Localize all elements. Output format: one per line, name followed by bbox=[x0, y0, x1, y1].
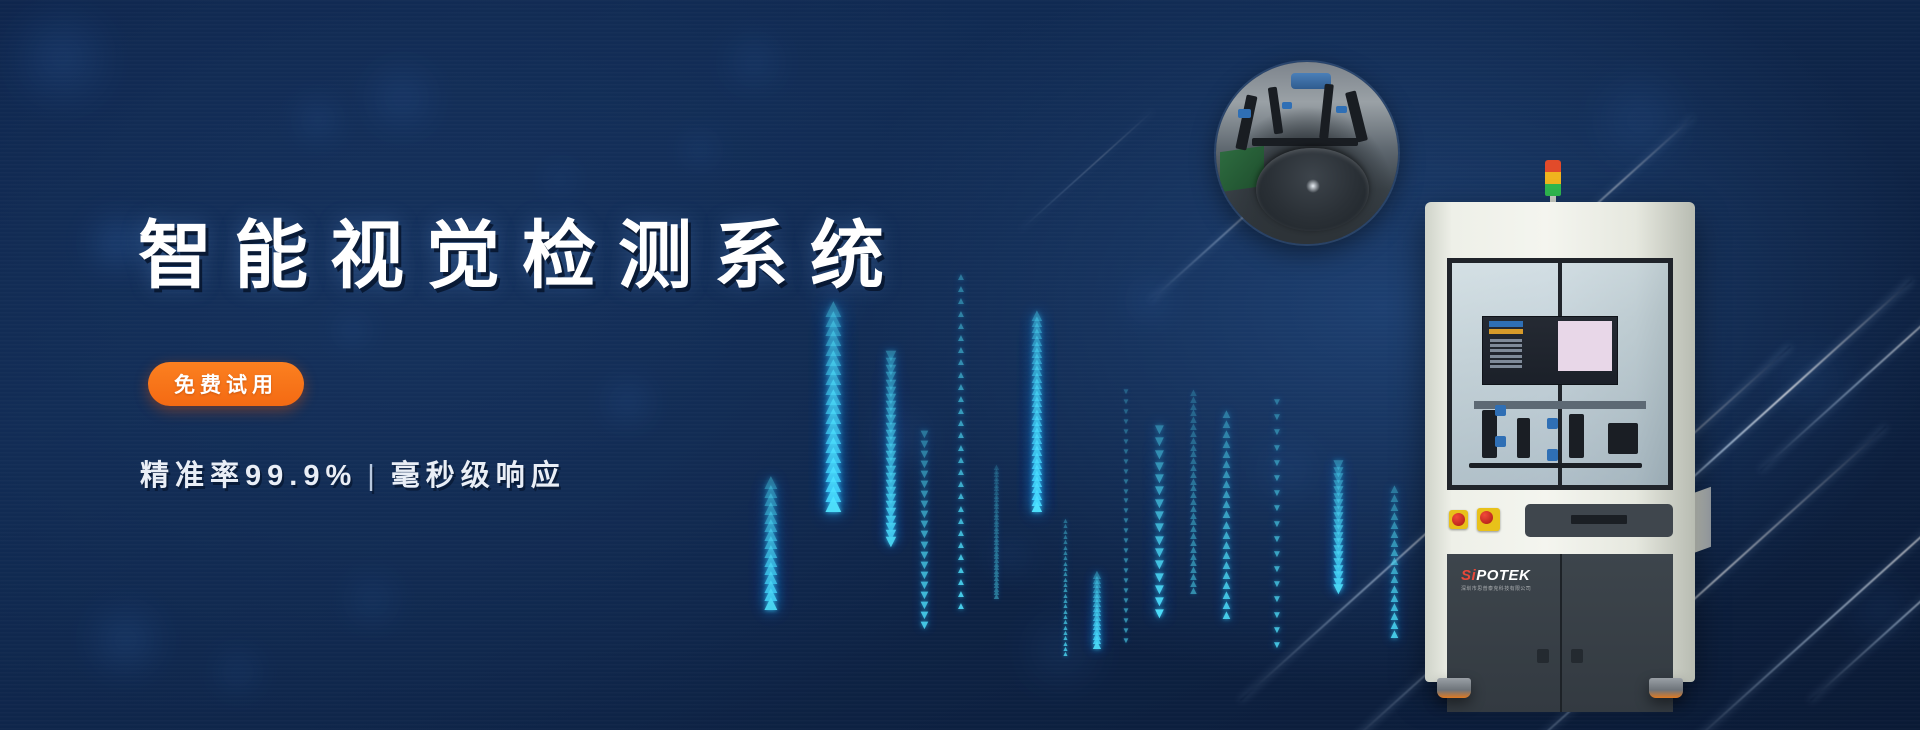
chevron-icon: ▼ bbox=[1122, 460, 1130, 465]
bokeh-glow bbox=[986, 532, 1034, 580]
chevron-icon: ▲ bbox=[1220, 480, 1233, 488]
hero-banner: ▲▲▲▲▲▲▲▲▲▲▲▲▲▲▲▲▲▲▲▲▲▲▲▲▲▲▲▲▲▲▲▲▲▲▲▲▼▼▼▼… bbox=[0, 0, 1920, 730]
chevron-icon: ▲ bbox=[1090, 612, 1104, 621]
chevron-icon: ▼ bbox=[1272, 582, 1282, 588]
chevron-icon: ▲ bbox=[1062, 573, 1069, 577]
signal-tower-red-lamp bbox=[1545, 160, 1561, 172]
chevron-icon: ▲ bbox=[1028, 341, 1046, 352]
chevron-icon: ▲ bbox=[1062, 589, 1069, 593]
chevron-icon: ▲ bbox=[992, 547, 1001, 553]
chevron-icon: ▼ bbox=[1272, 567, 1282, 573]
chevron-icon: ▲ bbox=[1028, 501, 1046, 512]
chevron-icon: ▲ bbox=[1090, 635, 1104, 644]
chevron-icon: ▲ bbox=[992, 554, 1001, 560]
chevron-icon: ▲ bbox=[1188, 479, 1199, 486]
chevron-column: ▼▼▼▼▼▼▼▼▼▼▼▼▼▼▼▼▼▼▼▼▼▼▼▼▼▼ bbox=[1122, 390, 1130, 730]
chevron-icon: ▲ bbox=[992, 551, 1001, 557]
brand-rest: POTEK bbox=[1476, 567, 1530, 584]
chevron-icon: ▲ bbox=[1090, 579, 1104, 588]
chevron-icon: ▼ bbox=[1152, 573, 1167, 582]
chevron-icon: ▼ bbox=[1122, 390, 1130, 395]
chevron-icon: ▲ bbox=[1188, 424, 1199, 431]
chevron-icon: ▲ bbox=[1188, 499, 1199, 506]
signal-tower bbox=[1545, 160, 1561, 208]
chevron-icon: ▲ bbox=[992, 526, 1001, 532]
hero-subtitle: 精准率99.9%|毫秒级响应 bbox=[140, 452, 566, 494]
signal-tower-yellow-lamp bbox=[1545, 172, 1561, 184]
chevron-icon: ▲ bbox=[1220, 571, 1233, 579]
chevron-icon: ▲ bbox=[1220, 460, 1233, 468]
chevron-icon: ▲ bbox=[992, 483, 1001, 489]
chevron-icon: ▼ bbox=[1152, 486, 1167, 495]
chevron-icon: ▲ bbox=[1188, 513, 1199, 520]
chevron-icon: ▲ bbox=[1388, 621, 1401, 629]
chevron-icon: ▲ bbox=[1188, 431, 1199, 438]
chevron-icon: ▼ bbox=[1330, 584, 1347, 595]
chevron-icon: ▲ bbox=[1220, 470, 1233, 478]
hmi-orange-bar bbox=[1489, 329, 1524, 334]
chevron-icon: ▼ bbox=[1272, 430, 1282, 436]
chevron-icon: ▲ bbox=[1028, 322, 1046, 333]
chevron-icon: ▼ bbox=[1272, 400, 1282, 406]
chevron-icon: ▲ bbox=[1062, 557, 1069, 561]
chevron-icon: ▲ bbox=[1090, 621, 1104, 630]
chevron-icon: ▲ bbox=[1188, 485, 1199, 492]
hmi-image-panel bbox=[1558, 321, 1612, 370]
chevron-icon: ▲ bbox=[992, 479, 1001, 485]
chevron-icon: ▲ bbox=[1388, 575, 1401, 583]
hero-text-block: 智能视觉检测系统 免费试用 精准率99.9%|毫秒级响应 bbox=[0, 0, 980, 730]
light-streak bbox=[1671, 412, 1920, 730]
chevron-icon: ▲ bbox=[992, 465, 1001, 471]
machine-foot bbox=[1649, 678, 1683, 698]
chevron-icon: ▲ bbox=[1388, 521, 1401, 529]
chevron-column: ▲▲▲▲▲▲▲▲▲▲▲▲▲▲▲▲▲ bbox=[1388, 485, 1401, 730]
chevron-icon: ▲ bbox=[1090, 626, 1104, 635]
chevron-icon: ▲ bbox=[1062, 648, 1069, 652]
chevron-icon: ▲ bbox=[992, 472, 1001, 478]
chevron-icon: ▲ bbox=[1062, 568, 1069, 572]
chevron-icon: ▲ bbox=[1028, 495, 1046, 506]
chevron-icon: ▼ bbox=[1152, 425, 1167, 434]
chevron-icon: ▲ bbox=[1090, 607, 1104, 616]
chevron-icon: ▲ bbox=[1220, 561, 1233, 569]
chevron-icon: ▼ bbox=[1122, 400, 1130, 405]
chevron-icon: ▼ bbox=[1330, 545, 1347, 556]
chevron-icon: ▼ bbox=[1122, 430, 1130, 435]
light-streak bbox=[1759, 249, 1920, 471]
chevron-icon: ▲ bbox=[1388, 539, 1401, 547]
chevron-icon: ▼ bbox=[1330, 519, 1347, 530]
subtitle-latency: 毫秒级响应 bbox=[391, 460, 566, 492]
subtitle-accuracy: 精准率99.9% bbox=[140, 460, 357, 492]
chevron-icon: ▼ bbox=[1330, 578, 1347, 589]
chevron-icon: ▲ bbox=[1028, 476, 1046, 487]
chevron-icon: ▼ bbox=[1152, 462, 1167, 471]
inset-connector bbox=[1238, 109, 1251, 118]
machine-fixture bbox=[1569, 414, 1584, 458]
inset-rotary-glass-plate bbox=[1256, 148, 1369, 232]
chevron-icon: ▲ bbox=[992, 590, 1001, 596]
chevron-icon: ▲ bbox=[1062, 547, 1069, 551]
chevron-icon: ▲ bbox=[1388, 630, 1401, 638]
chevron-icon: ▼ bbox=[1152, 450, 1167, 459]
inset-connector bbox=[1282, 102, 1293, 109]
chevron-icon: ▲ bbox=[1028, 409, 1046, 420]
chevron-icon: ▲ bbox=[992, 569, 1001, 575]
chevron-icon: ▲ bbox=[992, 529, 1001, 535]
chevron-icon: ▲ bbox=[1028, 365, 1046, 376]
machine-control-strip bbox=[1447, 502, 1673, 544]
chevron-icon: ▲ bbox=[1028, 396, 1046, 407]
chevron-icon: ▲ bbox=[1090, 593, 1104, 602]
chevron-icon: ▼ bbox=[1122, 629, 1130, 634]
machine-foot bbox=[1437, 678, 1471, 698]
chevron-icon: ▲ bbox=[1028, 482, 1046, 493]
chevron-icon: ▲ bbox=[1028, 390, 1046, 401]
chevron-icon: ▲ bbox=[1090, 603, 1104, 612]
chevron-icon: ▼ bbox=[1330, 538, 1347, 549]
chevron-icon: ▲ bbox=[1220, 591, 1233, 599]
chevron-icon: ▲ bbox=[1062, 616, 1069, 620]
chevron-icon: ▼ bbox=[1330, 571, 1347, 582]
chevron-icon: ▼ bbox=[1122, 440, 1130, 445]
chevron-icon: ▼ bbox=[1272, 522, 1282, 528]
machine-fixture bbox=[1517, 418, 1530, 458]
chevron-icon: ▲ bbox=[1062, 536, 1069, 540]
chevron-icon: ▲ bbox=[992, 522, 1001, 528]
bokeh-glow bbox=[1244, 426, 1332, 514]
chevron-icon: ▲ bbox=[1090, 570, 1104, 579]
chevron-icon: ▲ bbox=[1028, 458, 1046, 469]
subtitle-separator: | bbox=[357, 460, 391, 492]
chevron-column: ▲▲▲▲▲▲▲▲▲▲▲▲▲▲▲▲▲▲▲▲▲▲▲▲▲▲▲▲▲▲▲▲ bbox=[1028, 310, 1046, 730]
chevron-column: ▲▲▲▲▲▲▲▲▲▲▲▲▲▲▲▲▲▲▲▲▲ bbox=[1220, 410, 1233, 730]
inset-connector bbox=[1336, 106, 1347, 113]
chevron-icon: ▲ bbox=[1028, 384, 1046, 395]
chevron-icon: ▲ bbox=[1028, 445, 1046, 456]
chevron-icon: ▼ bbox=[1152, 499, 1167, 508]
chevron-icon: ▼ bbox=[1272, 461, 1282, 467]
chevron-icon: ▲ bbox=[1388, 603, 1401, 611]
chevron-icon: ▲ bbox=[1388, 494, 1401, 502]
chevron-icon: ▲ bbox=[992, 515, 1001, 521]
chevron-icon: ▲ bbox=[1388, 512, 1401, 520]
chevron-icon: ▲ bbox=[992, 508, 1001, 514]
machine-blue-fitting bbox=[1495, 436, 1506, 447]
machine-hmi-screen bbox=[1482, 316, 1618, 385]
chevron-icon: ▼ bbox=[1272, 597, 1282, 603]
chevron-icon: ▲ bbox=[1188, 560, 1199, 567]
emergency-stop-button[interactable] bbox=[1449, 510, 1468, 529]
chevron-icon: ▲ bbox=[1388, 503, 1401, 511]
chevron-column: ▲▲▲▲▲▲▲▲▲▲▲▲▲▲▲▲ bbox=[1090, 570, 1104, 730]
chevron-icon: ▲ bbox=[1188, 390, 1199, 397]
chevron-column: ▲▲▲▲▲▲▲▲▲▲▲▲▲▲▲▲▲▲▲▲▲▲▲▲▲▲▲▲▲▲ bbox=[1188, 390, 1199, 730]
chevron-icon: ▲ bbox=[1188, 445, 1199, 452]
chevron-icon: ▲ bbox=[1028, 359, 1046, 370]
light-streak bbox=[1020, 110, 1155, 231]
chevron-icon: ▲ bbox=[992, 558, 1001, 564]
chevron-icon: ▲ bbox=[1090, 589, 1104, 598]
inset-photo-rotary-inspection bbox=[1216, 62, 1398, 244]
chevron-icon: ▲ bbox=[1090, 575, 1104, 584]
chevron-icon: ▲ bbox=[1062, 621, 1069, 625]
chevron-icon: ▲ bbox=[992, 476, 1001, 482]
chevron-icon: ▲ bbox=[1188, 410, 1199, 417]
chevron-icon: ▲ bbox=[1062, 579, 1069, 583]
chevron-column: ▼▼▼▼▼▼▼▼▼▼▼▼▼▼▼▼▼ bbox=[1272, 400, 1282, 730]
machine-base-plate bbox=[1469, 463, 1642, 468]
chevron-icon: ▼ bbox=[1330, 493, 1347, 504]
chevron-icon: ▲ bbox=[1188, 438, 1199, 445]
chevron-icon: ▲ bbox=[992, 537, 1001, 543]
chevron-icon: ▲ bbox=[1028, 439, 1046, 450]
chevron-icon: ▲ bbox=[1028, 415, 1046, 426]
chevron-icon: ▲ bbox=[992, 497, 1001, 503]
machine-company-name: 深圳市思普泰克科技有限公司 bbox=[1461, 585, 1531, 592]
chevron-icon: ▲ bbox=[1220, 440, 1233, 448]
chevron-icon: ▲ bbox=[1188, 540, 1199, 547]
chevron-icon: ▲ bbox=[992, 504, 1001, 510]
chevron-icon: ▲ bbox=[992, 490, 1001, 496]
chevron-icon: ▲ bbox=[992, 469, 1001, 475]
chevron-icon: ▲ bbox=[1388, 530, 1401, 538]
chevron-icon: ▼ bbox=[1152, 597, 1167, 606]
chevron-icon: ▼ bbox=[1330, 460, 1347, 471]
chevron-icon: ▼ bbox=[1272, 446, 1282, 452]
chevron-icon: ▼ bbox=[1122, 569, 1130, 574]
chevron-icon: ▼ bbox=[1122, 470, 1130, 475]
chevron-icon: ▲ bbox=[1028, 353, 1046, 364]
chevron-icon: ▼ bbox=[1122, 480, 1130, 485]
door-handle-left[interactable] bbox=[1537, 649, 1549, 663]
chevron-icon: ▲ bbox=[1028, 372, 1046, 383]
chevron-icon: ▲ bbox=[992, 494, 1001, 500]
chevron-icon: ▼ bbox=[1122, 639, 1130, 644]
chevron-icon: ▼ bbox=[1330, 506, 1347, 517]
chevron-icon: ▲ bbox=[1188, 492, 1199, 499]
chevron-icon: ▲ bbox=[1028, 347, 1046, 358]
chevron-icon: ▲ bbox=[1188, 397, 1199, 404]
chevron-icon: ▲ bbox=[992, 540, 1001, 546]
chevron-icon: ▲ bbox=[1188, 519, 1199, 526]
chevron-column: ▲▲▲▲▲▲▲▲▲▲▲▲▲▲▲▲▲▲▲▲▲▲▲▲▲▲▲▲▲▲▲▲▲▲▲▲▲ bbox=[992, 465, 1001, 730]
chevron-icon: ▲ bbox=[1220, 551, 1233, 559]
chevron-icon: ▲ bbox=[992, 572, 1001, 578]
chevron-icon: ▲ bbox=[1388, 585, 1401, 593]
chevron-icon: ▲ bbox=[1388, 557, 1401, 565]
chevron-column: ▲▲▲▲▲▲▲▲▲▲▲▲▲▲▲▲▲▲▲▲▲▲▲▲▲▲ bbox=[1062, 520, 1069, 730]
chevron-icon: ▲ bbox=[1062, 584, 1069, 588]
chevron-icon: ▲ bbox=[1188, 533, 1199, 540]
chevron-icon: ▼ bbox=[1122, 589, 1130, 594]
chevron-icon: ▲ bbox=[1062, 632, 1069, 636]
chevron-icon: ▲ bbox=[1188, 574, 1199, 581]
chevron-icon: ▼ bbox=[1122, 450, 1130, 455]
chevron-icon: ▲ bbox=[992, 486, 1001, 492]
chevron-icon: ▲ bbox=[1188, 458, 1199, 465]
machine-fixture bbox=[1482, 410, 1497, 459]
chevron-icon: ▲ bbox=[1062, 605, 1069, 609]
chevron-icon: ▲ bbox=[1028, 378, 1046, 389]
chevron-icon: ▼ bbox=[1122, 559, 1130, 564]
bokeh-glow bbox=[1010, 598, 1114, 702]
bokeh-glow bbox=[1120, 270, 1180, 330]
chevron-icon: ▲ bbox=[992, 576, 1001, 582]
chevron-icon: ▼ bbox=[1122, 420, 1130, 425]
chevron-icon: ▼ bbox=[1122, 529, 1130, 534]
chevron-icon: ▲ bbox=[1388, 485, 1401, 493]
chevron-icon: ▼ bbox=[1330, 525, 1347, 536]
chevron-icon: ▲ bbox=[1388, 548, 1401, 556]
signal-tower-green-lamp bbox=[1545, 184, 1561, 196]
chevron-icon: ▲ bbox=[1062, 595, 1069, 599]
chevron-icon: ▲ bbox=[1388, 594, 1401, 602]
chevron-icon: ▲ bbox=[992, 562, 1001, 568]
chevron-icon: ▼ bbox=[1122, 609, 1130, 614]
chevron-icon: ▼ bbox=[1122, 549, 1130, 554]
chevron-icon: ▲ bbox=[1220, 510, 1233, 518]
chevron-icon: ▲ bbox=[1188, 417, 1199, 424]
chevron-icon: ▲ bbox=[1188, 547, 1199, 554]
machine-brand-logo: SiPOTEK bbox=[1461, 568, 1530, 583]
machine-access-slot bbox=[1525, 504, 1673, 537]
chevron-icon: ▲ bbox=[1220, 611, 1233, 619]
page-title: 智能视觉检测系统 bbox=[138, 196, 906, 303]
chevron-icon: ▼ bbox=[1330, 532, 1347, 543]
chevron-icon: ▼ bbox=[1152, 474, 1167, 483]
chevron-icon: ▼ bbox=[1272, 613, 1282, 619]
chevron-icon: ▼ bbox=[1122, 499, 1130, 504]
chevron-icon: ▲ bbox=[1220, 450, 1233, 458]
chevron-icon: ▼ bbox=[1330, 565, 1347, 576]
chevron-icon: ▲ bbox=[1188, 465, 1199, 472]
machine-blue-fitting bbox=[1495, 405, 1506, 416]
chevron-icon: ▼ bbox=[1122, 410, 1130, 415]
chevron-icon: ▲ bbox=[992, 565, 1001, 571]
chevron-icon: ▲ bbox=[1188, 526, 1199, 533]
chevron-icon: ▼ bbox=[1272, 476, 1282, 482]
chevron-icon: ▼ bbox=[1152, 437, 1167, 446]
machine-lower-doors[interactable]: SiPOTEK 深圳市思普泰克科技有限公司 bbox=[1447, 554, 1673, 712]
chevron-icon: ▲ bbox=[1388, 612, 1401, 620]
free-trial-badge-label: 免费试用 bbox=[174, 369, 278, 399]
chevron-icon: ▼ bbox=[1330, 467, 1347, 478]
chevron-icon: ▲ bbox=[1028, 470, 1046, 481]
bokeh-glow bbox=[1762, 330, 1862, 430]
chevron-icon: ▲ bbox=[1220, 490, 1233, 498]
chevron-icon: ▲ bbox=[1220, 500, 1233, 508]
hmi-blue-bar bbox=[1489, 321, 1524, 328]
chevron-icon: ▲ bbox=[1028, 421, 1046, 432]
chevron-icon: ▼ bbox=[1330, 558, 1347, 569]
emergency-stop-button[interactable] bbox=[1477, 508, 1500, 531]
chevron-icon: ▼ bbox=[1122, 539, 1130, 544]
chevron-icon: ▲ bbox=[1062, 525, 1069, 529]
chevron-icon: ▲ bbox=[992, 544, 1001, 550]
chevron-icon: ▲ bbox=[1062, 552, 1069, 556]
chevron-icon: ▲ bbox=[1028, 328, 1046, 339]
machine-cabinet: SiPOTEK 深圳市思普泰克科技有限公司 bbox=[1425, 202, 1695, 682]
chevron-column: ▼▼▼▼▼▼▼▼▼▼▼▼▼▼▼▼▼▼▼▼ bbox=[1330, 460, 1347, 730]
chevron-icon: ▲ bbox=[1028, 316, 1046, 327]
chevron-icon: ▼ bbox=[1122, 579, 1130, 584]
machine-fixture bbox=[1608, 423, 1638, 454]
chevron-icon: ▲ bbox=[1220, 420, 1233, 428]
chevron-icon: ▲ bbox=[1188, 581, 1199, 588]
chevron-icon: ▼ bbox=[1152, 523, 1167, 532]
chevron-icon: ▲ bbox=[1062, 643, 1069, 647]
chevron-icon: ▲ bbox=[992, 580, 1001, 586]
chevron-icon: ▲ bbox=[1062, 520, 1069, 524]
chevron-icon: ▼ bbox=[1152, 560, 1167, 569]
chevron-icon: ▲ bbox=[1090, 584, 1104, 593]
chevron-icon: ▲ bbox=[1028, 310, 1046, 321]
chevron-icon: ▲ bbox=[1062, 637, 1069, 641]
machine-side-bracket bbox=[1693, 487, 1711, 554]
chevron-icon: ▼ bbox=[1152, 536, 1167, 545]
chevron-icon: ▲ bbox=[1220, 410, 1233, 418]
chevron-icon: ▼ bbox=[1272, 537, 1282, 543]
chevron-icon: ▼ bbox=[1330, 480, 1347, 491]
chevron-icon: ▼ bbox=[1152, 609, 1167, 618]
door-handle-right[interactable] bbox=[1571, 649, 1583, 663]
chevron-icon: ▲ bbox=[1220, 541, 1233, 549]
chevron-icon: ▲ bbox=[1090, 617, 1104, 626]
machine-glass-doors bbox=[1447, 258, 1673, 490]
chevron-icon: ▼ bbox=[1330, 551, 1347, 562]
inspection-machine: SiPOTEK 深圳市思普泰克科技有限公司 bbox=[1425, 160, 1695, 705]
chevron-icon: ▲ bbox=[1188, 451, 1199, 458]
chevron-icon: ▲ bbox=[1062, 541, 1069, 545]
chevron-icon: ▼ bbox=[1272, 415, 1282, 421]
chevron-icon: ▲ bbox=[1220, 581, 1233, 589]
chevron-icon: ▲ bbox=[1028, 433, 1046, 444]
chevron-icon: ▼ bbox=[1272, 506, 1282, 512]
chevron-icon: ▼ bbox=[1272, 491, 1282, 497]
bokeh-glow bbox=[1840, 570, 1920, 650]
chevron-icon: ▼ bbox=[1272, 643, 1282, 649]
chevron-icon: ▲ bbox=[992, 587, 1001, 593]
chevron-icon: ▼ bbox=[1152, 511, 1167, 520]
chevron-icon: ▲ bbox=[1090, 640, 1104, 649]
chevron-icon: ▲ bbox=[1062, 611, 1069, 615]
chevron-icon: ▲ bbox=[1028, 452, 1046, 463]
chevron-icon: ▼ bbox=[1330, 473, 1347, 484]
chevron-icon: ▲ bbox=[992, 501, 1001, 507]
chevron-icon: ▲ bbox=[1028, 489, 1046, 500]
chevron-icon: ▼ bbox=[1122, 509, 1130, 514]
machine-blue-fitting bbox=[1547, 449, 1558, 460]
light-streak bbox=[1809, 500, 1920, 702]
chevron-icon: ▲ bbox=[1220, 601, 1233, 609]
chevron-icon: ▼ bbox=[1152, 548, 1167, 557]
chevron-icon: ▲ bbox=[1188, 404, 1199, 411]
chevron-icon: ▲ bbox=[1188, 506, 1199, 513]
chevron-icon: ▲ bbox=[1028, 464, 1046, 475]
chevron-icon: ▲ bbox=[1090, 631, 1104, 640]
chevron-icon: ▲ bbox=[1062, 600, 1069, 604]
chevron-icon: ▲ bbox=[1188, 588, 1199, 595]
free-trial-badge[interactable]: 免费试用 bbox=[148, 362, 304, 406]
chevron-icon: ▲ bbox=[1220, 430, 1233, 438]
chevron-icon: ▲ bbox=[1388, 566, 1401, 574]
chevron-icon: ▲ bbox=[1028, 427, 1046, 438]
chevron-icon: ▲ bbox=[1062, 531, 1069, 535]
chevron-icon: ▲ bbox=[1062, 627, 1069, 631]
chevron-icon: ▲ bbox=[1188, 567, 1199, 574]
